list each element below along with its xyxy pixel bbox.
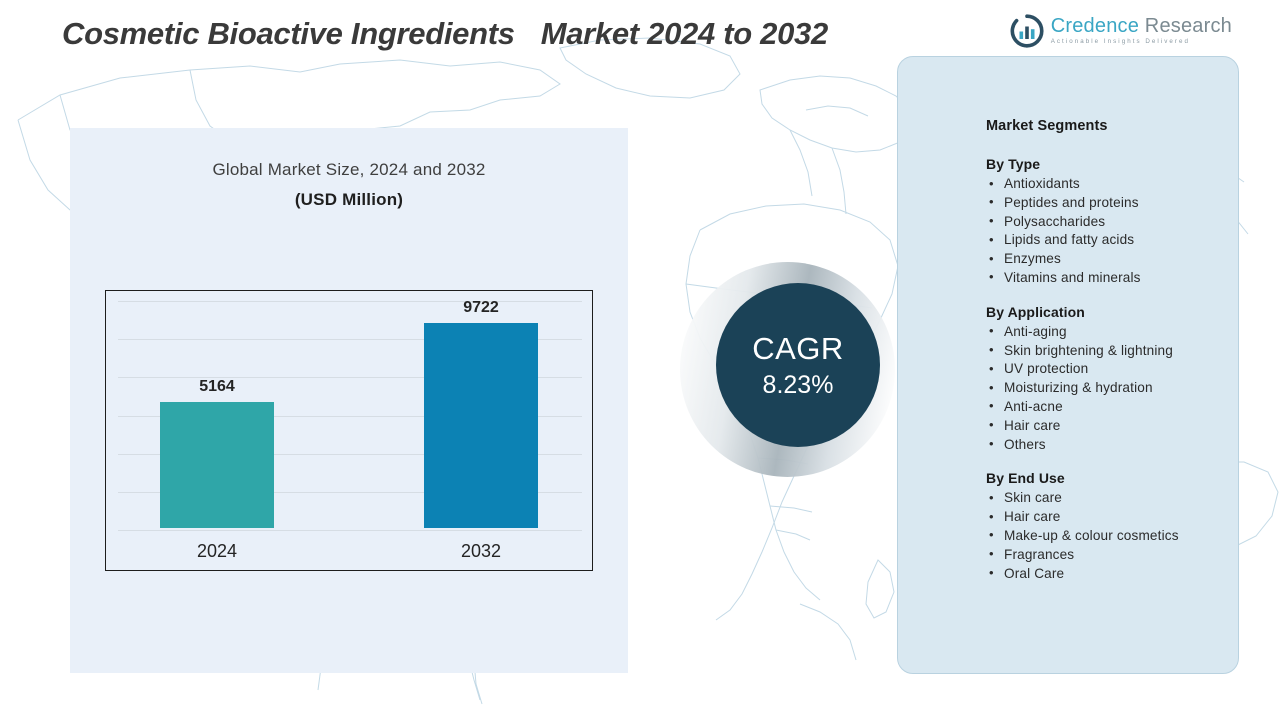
segment-list-item[interactable]: Make-up & colour cosmetics (986, 527, 1236, 546)
segment-list-item[interactable]: Others (986, 436, 1236, 455)
page-title-part1: Cosmetic Bioactive Ingredients (62, 16, 515, 51)
segment-list-item[interactable]: Moisturizing & hydration (986, 379, 1236, 398)
segment-list-item[interactable]: UV protection (986, 360, 1236, 379)
logo-name-primary: Credence (1051, 15, 1139, 37)
segment-group: By End UseSkin careHair careMake-up & co… (986, 470, 1236, 583)
segment-groups: By TypeAntioxidantsPeptides and proteins… (986, 156, 1236, 583)
segment-group-title: By End Use (986, 470, 1236, 486)
segment-list-item[interactable]: Vitamins and minerals (986, 269, 1236, 288)
segment-list-item[interactable]: Oral Care (986, 565, 1236, 584)
segment-list-item[interactable]: Anti-aging (986, 323, 1236, 342)
bar-2024 (160, 402, 274, 528)
header: Cosmetic Bioactive IngredientsMarket 202… (0, 0, 1280, 62)
segment-list: AntioxidantsPeptides and proteinsPolysac… (986, 175, 1236, 288)
chart-heading-line1: Global Market Size, 2024 and 2032 (70, 160, 628, 180)
bar-chart-circle-icon (1010, 14, 1044, 48)
segment-group: By TypeAntioxidantsPeptides and proteins… (986, 156, 1236, 288)
segment-list-item[interactable]: Fragrances (986, 546, 1236, 565)
chart-plot-area: 5164202497222032 (106, 291, 592, 570)
market-segments-title: Market Segments (986, 118, 1236, 134)
logo-name-secondary: Research (1139, 15, 1232, 37)
bar-2032 (424, 323, 538, 528)
logo-name: Credence Research (1051, 16, 1232, 36)
segment-list-item[interactable]: Lipids and fatty acids (986, 231, 1236, 250)
segment-list-item[interactable]: Polysaccharides (986, 213, 1236, 232)
segment-list-item[interactable]: Skin care (986, 489, 1236, 508)
cagr-value: 8.23% (763, 373, 834, 398)
credence-research-logo[interactable]: Credence Research Actionable Insights De… (1010, 10, 1232, 52)
segment-list: Skin careHair careMake-up & colour cosme… (986, 489, 1236, 583)
segment-group-title: By Type (986, 156, 1236, 172)
segment-group: By ApplicationAnti-agingSkin brightening… (986, 304, 1236, 455)
infographic-root: Cosmetic Bioactive IngredientsMarket 202… (0, 0, 1280, 720)
market-segments-content: Market Segments By TypeAntioxidantsPepti… (986, 118, 1236, 599)
page-title-part2: Market 2024 to 2032 (541, 16, 828, 51)
cagr-badge: CAGR 8.23% (716, 283, 880, 447)
bar-value-label: 9722 (421, 299, 541, 317)
segment-list: Anti-agingSkin brightening & lightningUV… (986, 323, 1236, 455)
bar-chart: 5164202497222032 (105, 290, 593, 571)
logo-tagline: Actionable Insights Delivered (1051, 39, 1232, 45)
segment-list-item[interactable]: Peptides and proteins (986, 194, 1236, 213)
segment-list-item[interactable]: Skin brightening & lightning (986, 342, 1236, 361)
page-title: Cosmetic Bioactive IngredientsMarket 202… (62, 16, 828, 52)
segment-list-item[interactable]: Hair care (986, 508, 1236, 527)
segment-list-item[interactable]: Hair care (986, 417, 1236, 436)
segment-list-item[interactable]: Anti-acne (986, 398, 1236, 417)
segment-list-item[interactable]: Enzymes (986, 250, 1236, 269)
cagr-label: CAGR (752, 333, 844, 364)
x-axis-label: 2032 (421, 541, 541, 562)
chart-heading: Global Market Size, 2024 and 2032 (USD M… (70, 160, 628, 210)
bar-value-label: 5164 (157, 378, 277, 396)
x-axis-label: 2024 (157, 541, 277, 562)
segment-group-title: By Application (986, 304, 1236, 320)
chart-heading-line2: (USD Million) (70, 190, 628, 210)
segment-list-item[interactable]: Antioxidants (986, 175, 1236, 194)
